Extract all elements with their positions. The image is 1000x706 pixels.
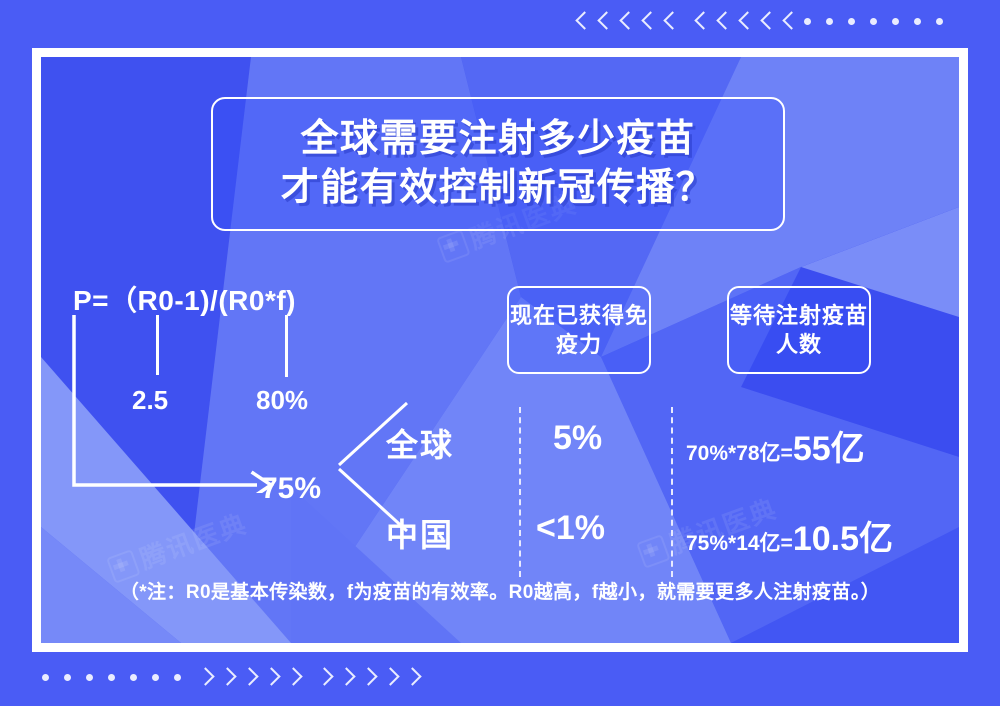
page-title-line-2: 才能有效控制新冠传播？	[281, 164, 716, 213]
chevron-right-icon	[381, 666, 396, 688]
chevron-right-icon	[262, 666, 277, 688]
chevron-left-icon	[760, 10, 775, 32]
chevron-left-icon	[782, 10, 797, 32]
column-header-immunity: 现在已获得免疫力	[507, 286, 651, 374]
formula-result-value: 75%	[261, 472, 321, 506]
chevron-right-icon	[315, 666, 330, 688]
dot-icon	[86, 674, 93, 681]
chevron-left-icon	[575, 10, 590, 32]
formula-result-arrow	[71, 313, 286, 493]
dot-icon	[804, 18, 811, 25]
chevron-right-icon	[240, 666, 255, 688]
column-header-waiting: 等待注射疫苗人数	[727, 286, 871, 374]
chevron-left-icon	[619, 10, 634, 32]
table-divider-1	[519, 407, 521, 577]
dot-icon	[152, 674, 159, 681]
footnote-text: （*注：R0是基本传染数，f为疫苗的有效率。R0越高，f越小，就需要更多人注射疫…	[41, 577, 959, 604]
column-header-immunity-label: 现在已获得免疫力	[509, 301, 649, 360]
bottom-decoration-strip	[42, 662, 425, 692]
poster-frame: 腾讯医典 腾讯医典 腾讯医典 全球需要注射多少疫苗 才能有效控制新冠传播？ P=…	[32, 48, 968, 652]
table-row-immunity: 5%	[553, 419, 602, 458]
chevron-right-icon	[403, 666, 418, 688]
dot-icon	[826, 18, 833, 25]
dot-icon	[130, 674, 137, 681]
dot-icon	[108, 674, 115, 681]
chevron-left-icon	[663, 10, 678, 32]
chevron-left-icon	[641, 10, 656, 32]
dot-icon	[870, 18, 877, 25]
chevron-right-icon	[284, 666, 299, 688]
table-divider-2	[671, 407, 673, 577]
chevron-right-icon	[337, 666, 352, 688]
chevron-right-icon	[196, 666, 211, 688]
table-row-calculation: 75%*14亿=10.5亿	[686, 511, 893, 560]
title-box: 全球需要注射多少疫苗 才能有效控制新冠传播？	[211, 97, 785, 231]
table-row-region: 全球	[386, 420, 454, 466]
chevron-right-icon	[218, 666, 233, 688]
chevron-left-icon	[738, 10, 753, 32]
dot-icon	[892, 18, 899, 25]
top-decoration-strip	[575, 6, 958, 36]
dot-icon	[914, 18, 921, 25]
page-title-line-1: 全球需要注射多少疫苗	[300, 115, 695, 164]
chevron-right-icon	[359, 666, 374, 688]
table-row-calculation: 70%*78亿=55亿	[686, 421, 865, 470]
table-row-region: 中国	[386, 510, 454, 556]
table-row-immunity: <1%	[536, 509, 605, 548]
calculation-result: 10.5亿	[793, 520, 893, 558]
dot-icon	[174, 674, 181, 681]
dot-icon	[848, 18, 855, 25]
calculation-expression: 75%*14亿=	[686, 532, 793, 555]
chevron-left-icon	[597, 10, 612, 32]
column-header-waiting-label: 等待注射疫苗人数	[729, 301, 869, 360]
dot-icon	[936, 18, 943, 25]
poster-canvas: 腾讯医典 腾讯医典 腾讯医典 全球需要注射多少疫苗 才能有效控制新冠传播？ P=…	[41, 57, 959, 643]
chevron-left-icon	[694, 10, 709, 32]
dot-icon	[42, 674, 49, 681]
calculation-expression: 70%*78亿=	[686, 442, 793, 465]
infographic-poster: 腾讯医典 腾讯医典 腾讯医典 全球需要注射多少疫苗 才能有效控制新冠传播？ P=…	[0, 0, 1000, 706]
dot-icon	[64, 674, 71, 681]
calculation-result: 55亿	[793, 430, 865, 468]
chevron-left-icon	[716, 10, 731, 32]
